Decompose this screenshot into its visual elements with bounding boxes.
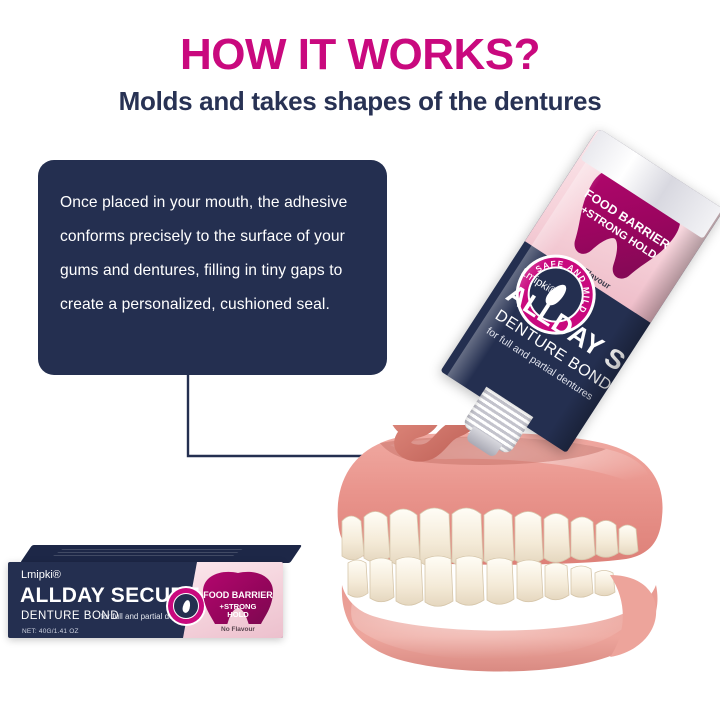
- callout-box: Once placed in your mouth, the adhesive …: [38, 160, 387, 375]
- carton-brand: Lmipki®: [21, 569, 61, 581]
- carton-front-face: Lmipki® ALLDAY SECURE DENTURE BOND for f…: [8, 562, 283, 638]
- carton-top-face: [20, 545, 302, 563]
- page-title: HOW IT WORKS?: [0, 30, 720, 80]
- carton-badge-secondary-label: +STRONG HOLD: [210, 603, 266, 619]
- product-carton: Lmipki® ALLDAY SECURE DENTURE BOND for f…: [8, 545, 290, 638]
- carton-safe-and-mild-seal: [168, 588, 204, 624]
- carton-leaf-icon: [181, 599, 191, 613]
- carton-seal-inner-disc: [173, 593, 199, 619]
- infographic-canvas: HOW IT WORKS? Molds and takes shapes of …: [0, 0, 720, 720]
- carton-top-texture: [50, 549, 242, 558]
- carton-food-barrier-badge: FOOD BARRIER +STRONG HOLD: [200, 570, 276, 624]
- carton-flavour-label: No Flavour: [200, 626, 276, 633]
- callout-text: Once placed in your mouth, the adhesive …: [60, 186, 363, 322]
- carton-badge-primary-label: FOOD BARRIER: [200, 590, 276, 600]
- dentures-illustration: [318, 425, 678, 700]
- carton-net-weight: NET: 40G/1.41 OZ: [22, 628, 79, 635]
- product-tube: FOOD BARRIER +STRONG HOLD No Flavour SAF…: [437, 99, 720, 457]
